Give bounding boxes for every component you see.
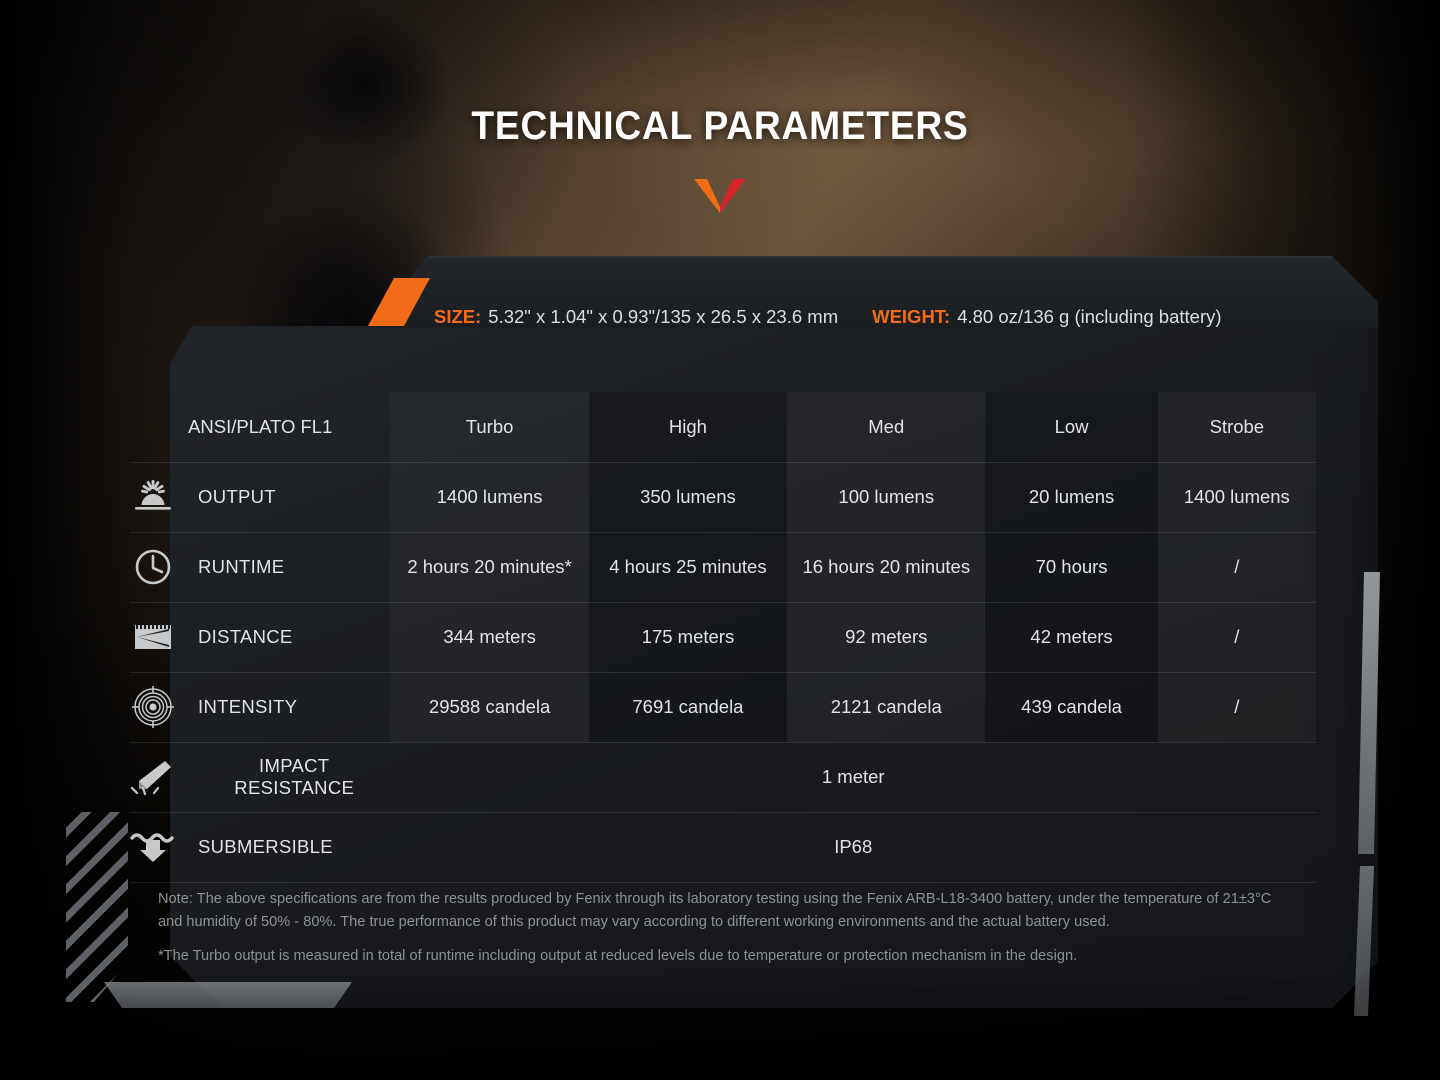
cell-output-high: 350 lumens	[589, 462, 787, 532]
cell-intensity-med: 2121 candela	[787, 672, 985, 742]
row-label-text: INTENSITY	[198, 696, 297, 718]
cell-distance-low: 42 meters	[985, 602, 1157, 672]
weight-value: 4.80 oz/136 g (including battery)	[957, 306, 1221, 328]
target-rings-icon	[130, 684, 176, 730]
cell-distance-turbo: 344 meters	[390, 602, 588, 672]
weight-label: WEIGHT:	[872, 306, 950, 328]
cell-distance-strobe: /	[1158, 602, 1316, 672]
cell-runtime-med: 16 hours 20 minutes	[787, 532, 985, 602]
bottom-left-accent-bar	[104, 982, 352, 1008]
cell-distance-high: 175 meters	[589, 602, 787, 672]
row-label-text: SUBMERSIBLE	[198, 836, 333, 858]
notes-block: Note: The above specifications are from …	[158, 888, 1298, 968]
sunburst-icon	[130, 474, 176, 520]
cell-distance-med: 92 meters	[787, 602, 985, 672]
clock-icon	[130, 544, 176, 590]
size-value: 5.32" x 1.04" x 0.93"/135 x 26.5 x 23.6 …	[488, 306, 838, 328]
cell-output-low: 20 lumens	[985, 462, 1157, 532]
chevron-divider	[0, 177, 1440, 213]
row-label-text: IMPACT RESISTANCE	[198, 755, 390, 799]
cell-runtime-low: 70 hours	[985, 532, 1157, 602]
beam-distance-icon	[130, 614, 176, 660]
cell-intensity-strobe: /	[1158, 672, 1316, 742]
note-footnote-text: *The Turbo output is measured in total o…	[158, 945, 1298, 968]
chevron-down-icon	[694, 177, 746, 213]
cell-impact-resistance-value: 1 meter	[390, 742, 1316, 812]
weight-group: WEIGHT: 4.80 oz/136 g (including battery…	[872, 306, 1221, 328]
specifications-table: ANSI/PLATO FL1 Turbo High Med Low Strobe	[130, 392, 1316, 883]
page-header: TECHNICAL PARAMETERS	[0, 0, 1440, 213]
cell-runtime-turbo: 2 hours 20 minutes*	[390, 532, 588, 602]
row-label-intensity: INTENSITY	[130, 672, 390, 742]
impact-arrow-icon	[130, 754, 176, 800]
row-label-text: OUTPUT	[198, 486, 276, 508]
row-label-text: RUNTIME	[198, 556, 284, 578]
cell-intensity-high: 7691 candela	[589, 672, 787, 742]
note-primary-text: Note: The above specifications are from …	[158, 888, 1298, 933]
page-title: TECHNICAL PARAMETERS	[50, 104, 1389, 149]
cell-intensity-turbo: 29588 candela	[390, 672, 588, 742]
table-row: RUNTIME 2 hours 20 minutes* 4 hours 25 m…	[130, 532, 1316, 602]
cell-output-med: 100 lumens	[787, 462, 985, 532]
row-label-text: DISTANCE	[198, 626, 293, 648]
cell-intensity-low: 439 candela	[985, 672, 1157, 742]
column-header-low: Low	[985, 392, 1157, 462]
row-label-runtime: RUNTIME	[130, 532, 390, 602]
table-row: OUTPUT 1400 lumens 350 lumens 100 lumens…	[130, 462, 1316, 532]
column-header-ansi: ANSI/PLATO FL1	[130, 392, 390, 462]
row-label-distance: DISTANCE	[130, 602, 390, 672]
size-group: SIZE: 5.32" x 1.04" x 0.93"/135 x 26.5 x…	[434, 306, 838, 328]
row-label-impact-resistance: IMPACT RESISTANCE	[130, 742, 390, 812]
size-label: SIZE:	[434, 306, 481, 328]
table-row: IMPACT RESISTANCE 1 meter	[130, 742, 1316, 812]
cell-output-turbo: 1400 lumens	[390, 462, 588, 532]
table-header-row: ANSI/PLATO FL1 Turbo High Med Low Strobe	[130, 392, 1316, 462]
column-header-strobe: Strobe	[1158, 392, 1316, 462]
column-header-high: High	[589, 392, 787, 462]
cell-runtime-high: 4 hours 25 minutes	[589, 532, 787, 602]
table-row: DISTANCE 344 meters 175 meters 92 meters…	[130, 602, 1316, 672]
row-label-submersible: SUBMERSIBLE	[130, 812, 390, 882]
cell-submersible-value: IP68	[390, 812, 1316, 882]
table-row: SUBMERSIBLE IP68	[130, 812, 1316, 882]
column-header-med: Med	[787, 392, 985, 462]
size-weight-strip: SIZE: 5.32" x 1.04" x 0.93"/135 x 26.5 x…	[434, 306, 1222, 328]
row-label-output: OUTPUT	[130, 462, 390, 532]
cell-output-strobe: 1400 lumens	[1158, 462, 1316, 532]
cell-runtime-strobe: /	[1158, 532, 1316, 602]
column-header-turbo: Turbo	[390, 392, 588, 462]
table-row: INTENSITY 29588 candela 7691 candela 212…	[130, 672, 1316, 742]
submersible-arrow-icon	[130, 824, 176, 870]
